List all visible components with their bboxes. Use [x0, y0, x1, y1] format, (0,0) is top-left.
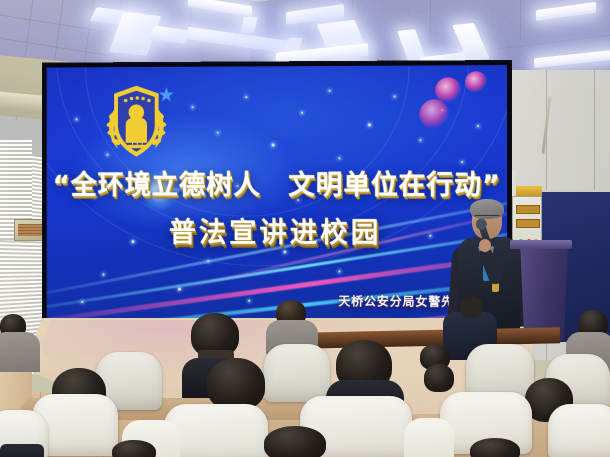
screen-orb	[419, 99, 449, 129]
speaker-badge	[492, 283, 499, 292]
audience-head	[470, 438, 520, 457]
ceiling-grid-line	[430, 0, 431, 48]
screen-orb	[465, 71, 487, 93]
audience-shoulders	[0, 444, 44, 457]
police-emblem-icon	[103, 82, 171, 163]
led-screen-content: ★	[47, 65, 507, 322]
wall-plaque	[14, 219, 46, 241]
photo-scene: ★	[0, 0, 610, 457]
audience-shirt	[404, 418, 454, 457]
ceiling-grid-line	[520, 0, 521, 40]
screen-headline: “全环境立德树人 文明单位在行动”	[47, 163, 507, 202]
audience-area	[0, 300, 610, 457]
audience-chair	[548, 404, 610, 457]
wall-sign	[516, 186, 542, 196]
audience-head	[264, 426, 326, 457]
screen-subheadline: 普法宣讲进校园	[47, 211, 507, 251]
podium-top	[510, 240, 572, 249]
audience-head	[424, 364, 454, 392]
audience-head	[112, 440, 156, 457]
audience-head	[207, 358, 265, 410]
audience-body	[0, 332, 40, 372]
audience-chair	[264, 344, 330, 402]
speaker-hand	[479, 239, 491, 252]
led-display-screen: ★	[44, 62, 510, 324]
